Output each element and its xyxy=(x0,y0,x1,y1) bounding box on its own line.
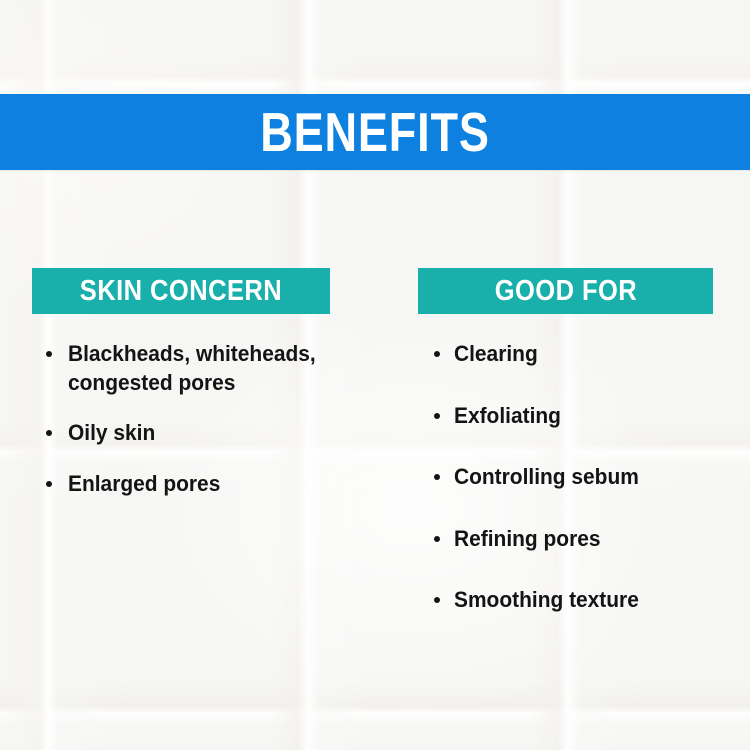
list-item-label: Refining pores xyxy=(454,525,600,554)
bullet-dot-icon xyxy=(46,430,52,436)
heading-skin-concern: SKIN CONCERN xyxy=(32,268,330,314)
good-for-list: Clearing Exfoliating Controlling sebum R… xyxy=(418,340,738,615)
list-item: Clearing xyxy=(418,340,738,369)
bullet-dot-icon xyxy=(434,351,440,357)
bullet-dot-icon xyxy=(46,351,52,357)
list-item-label: Clearing xyxy=(454,340,538,369)
bullet-dot-icon xyxy=(434,597,440,603)
heading-skin-concern-label: SKIN CONCERN xyxy=(80,277,282,306)
skin-concern-list: Blackheads, whiteheads, congested pores … xyxy=(32,340,392,498)
list-item: Enlarged pores xyxy=(32,470,392,499)
list-item: Controlling sebum xyxy=(418,463,738,492)
list-item: Blackheads, whiteheads, congested pores xyxy=(32,340,392,397)
list-item-label: Controlling sebum xyxy=(454,463,639,492)
bullet-dot-icon xyxy=(434,474,440,480)
bullet-dot-icon xyxy=(434,413,440,419)
banner-title: BENEFITS xyxy=(260,105,490,160)
list-item: Exfoliating xyxy=(418,402,738,431)
list-item: Refining pores xyxy=(418,525,738,554)
benefits-banner: BENEFITS xyxy=(0,94,750,170)
list-item: Smoothing texture xyxy=(418,586,738,615)
heading-good-for: GOOD FOR xyxy=(418,268,713,314)
list-item-label: Smoothing texture xyxy=(454,586,639,615)
list-item: Oily skin xyxy=(32,419,392,448)
bullet-dot-icon xyxy=(434,536,440,542)
list-item-label: Enlarged pores xyxy=(68,470,220,499)
bullet-dot-icon xyxy=(46,481,52,487)
benefits-infographic: BENEFITS SKIN CONCERN Blackheads, whiteh… xyxy=(0,0,750,750)
column-good-for: GOOD FOR Clearing Exfoliating Controllin… xyxy=(418,268,738,648)
list-item-label: Blackheads, whiteheads, congested pores xyxy=(68,340,369,397)
list-item-label: Exfoliating xyxy=(454,402,561,431)
list-item-label: Oily skin xyxy=(68,419,155,448)
column-skin-concern: SKIN CONCERN Blackheads, whiteheads, con… xyxy=(32,268,392,520)
heading-good-for-label: GOOD FOR xyxy=(494,277,636,306)
